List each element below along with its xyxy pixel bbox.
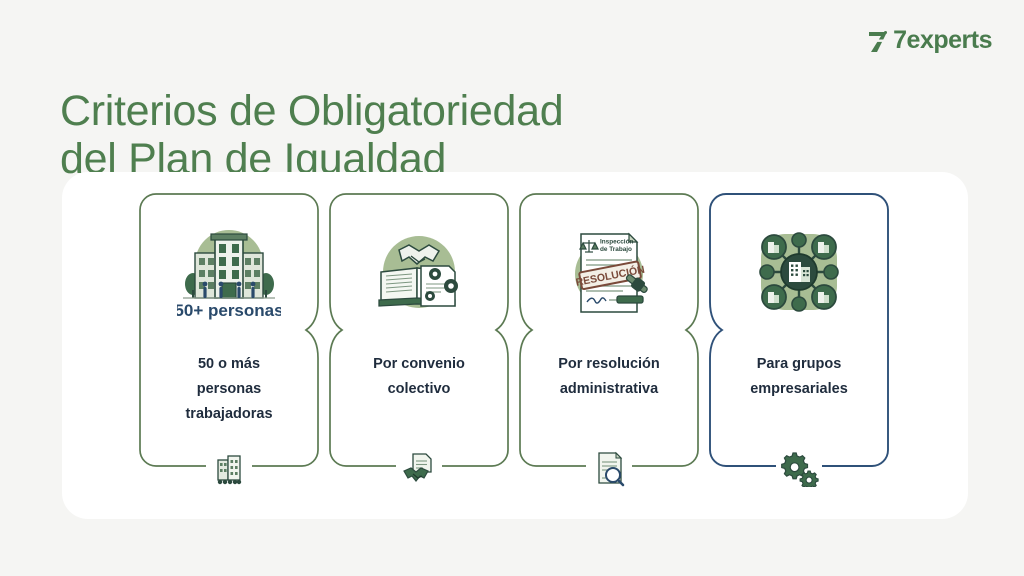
- card-convenio-colectivo[interactable]: Por convenio colectivo: [330, 194, 508, 466]
- doc-heading-line2: de Trabajo: [600, 246, 632, 253]
- card-caption: Para grupos empresariales: [710, 352, 888, 402]
- handshake-document-icon: [396, 446, 442, 492]
- card-caption: Por convenio colectivo: [330, 352, 508, 402]
- card-caption: 50 o más personas trabajadoras: [140, 352, 318, 427]
- seven-experts-logo-icon: [866, 28, 892, 54]
- brand-logo: 7experts: [866, 26, 992, 55]
- page-title: Criterios de Obligatoriedad del Plan de …: [60, 87, 563, 183]
- criteria-cards-row: 50+ personas 50 o más personas trabajado…: [62, 172, 968, 519]
- card-grupos-empresariales[interactable]: Para grupos empresariales: [710, 194, 888, 466]
- business-group-network-illustration: [747, 220, 851, 324]
- doc-heading-line1: Inspección: [600, 239, 633, 246]
- card-resolucion-administrativa[interactable]: Inspección de Trabajo RESOLUCIÓN: [520, 194, 698, 466]
- resolution-document-gavel-illustration: Inspección de Trabajo RESOLUCIÓN: [557, 220, 661, 324]
- building-icon: [206, 446, 252, 492]
- card-50-mas-personas[interactable]: 50+ personas 50 o más personas trabajado…: [140, 194, 318, 466]
- gears-icon: [776, 446, 822, 492]
- brand-name: 7experts: [893, 26, 992, 55]
- handshake-book-document-illustration: [367, 220, 471, 324]
- illustration-label: 50+ personas: [177, 301, 281, 320]
- document-magnifier-icon: [586, 446, 632, 492]
- card-caption: Por resolución administrativa: [520, 352, 698, 402]
- office-building-people-illustration: 50+ personas: [177, 220, 281, 324]
